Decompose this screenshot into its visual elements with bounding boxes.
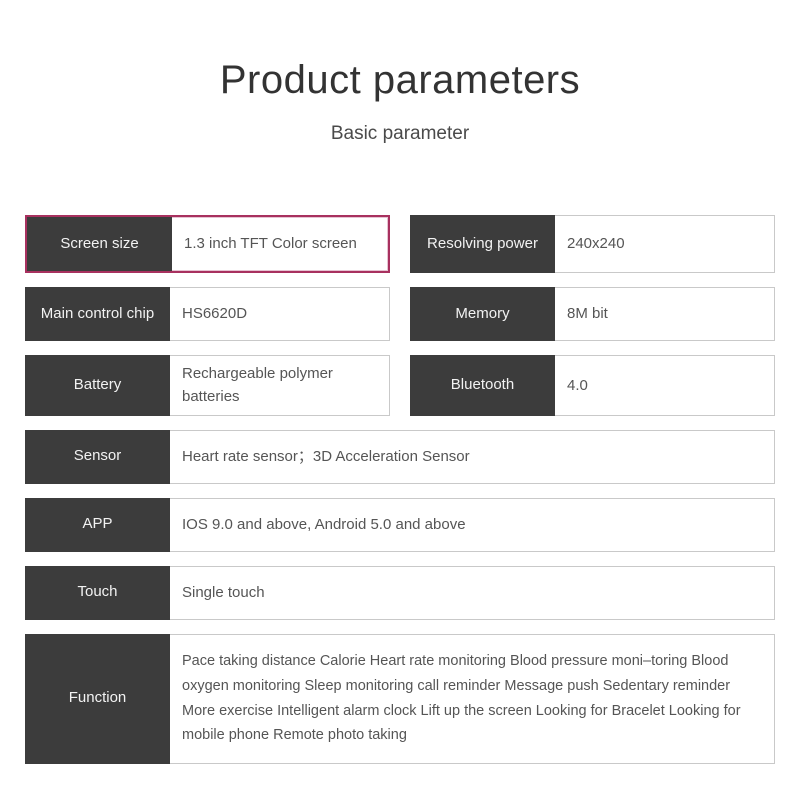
spec-label: Function [25, 634, 170, 764]
spec-value: 8M bit [555, 287, 775, 341]
spec-value: 4.0 [555, 355, 775, 416]
table-row-pair: Main control chip HS6620D Memory 8M bit [25, 287, 775, 341]
spec-value: Rechargeable polymer batteries [170, 355, 390, 416]
table-row[interactable]: Resolving power 240x240 [410, 215, 775, 273]
spec-value: Heart rate sensor；3D Acceleration Sensor [170, 430, 775, 484]
spec-label: Main control chip [25, 287, 170, 341]
table-row[interactable]: Sensor Heart rate sensor；3D Acceleration… [25, 430, 775, 484]
spec-value: Pace taking distance Calorie Heart rate … [170, 634, 775, 764]
page-title: Product parameters [0, 0, 800, 102]
spec-label: APP [25, 498, 170, 552]
table-row-pair: Touch Single touch [25, 566, 775, 620]
spec-value: Single touch [170, 566, 775, 620]
product-parameters-page: Product parameters Basic parameter Scree… [0, 0, 800, 800]
table-row[interactable]: Touch Single touch [25, 566, 775, 620]
spec-table: Screen size 1.3 inch TFT Color screen Re… [25, 215, 775, 778]
spec-value: HS6620D [170, 287, 390, 341]
spec-label: Screen size [27, 217, 172, 271]
table-row[interactable]: APP IOS 9.0 and above, Android 5.0 and a… [25, 498, 775, 552]
table-row[interactable]: Main control chip HS6620D [25, 287, 390, 341]
table-row[interactable]: Memory 8M bit [410, 287, 775, 341]
table-row[interactable]: Bluetooth 4.0 [410, 355, 775, 416]
table-row-pair: Battery Rechargeable polymer batteries B… [25, 355, 775, 416]
spec-label: Battery [25, 355, 170, 416]
table-row-function[interactable]: Function Pace taking distance Calorie He… [25, 634, 775, 764]
function-list-text: Pace taking distance Calorie Heart rate … [182, 649, 762, 749]
spec-label: Sensor [25, 430, 170, 484]
table-row-pair: APP IOS 9.0 and above, Android 5.0 and a… [25, 498, 775, 552]
table-row[interactable]: Battery Rechargeable polymer batteries [25, 355, 390, 416]
spec-label: Memory [410, 287, 555, 341]
spec-label: Bluetooth [410, 355, 555, 416]
table-row-pair: Screen size 1.3 inch TFT Color screen Re… [25, 215, 775, 273]
spec-value: 1.3 inch TFT Color screen [172, 217, 388, 271]
spec-label: Touch [25, 566, 170, 620]
table-row-pair: Sensor Heart rate sensor；3D Acceleration… [25, 430, 775, 484]
spec-value: IOS 9.0 and above, Android 5.0 and above [170, 498, 775, 552]
table-row-pair: Function Pace taking distance Calorie He… [25, 634, 775, 764]
spec-label: Resolving power [410, 215, 555, 273]
page-subtitle: Basic parameter [0, 102, 800, 145]
spec-value: 240x240 [555, 215, 775, 273]
table-row[interactable]: Screen size 1.3 inch TFT Color screen [25, 215, 390, 273]
